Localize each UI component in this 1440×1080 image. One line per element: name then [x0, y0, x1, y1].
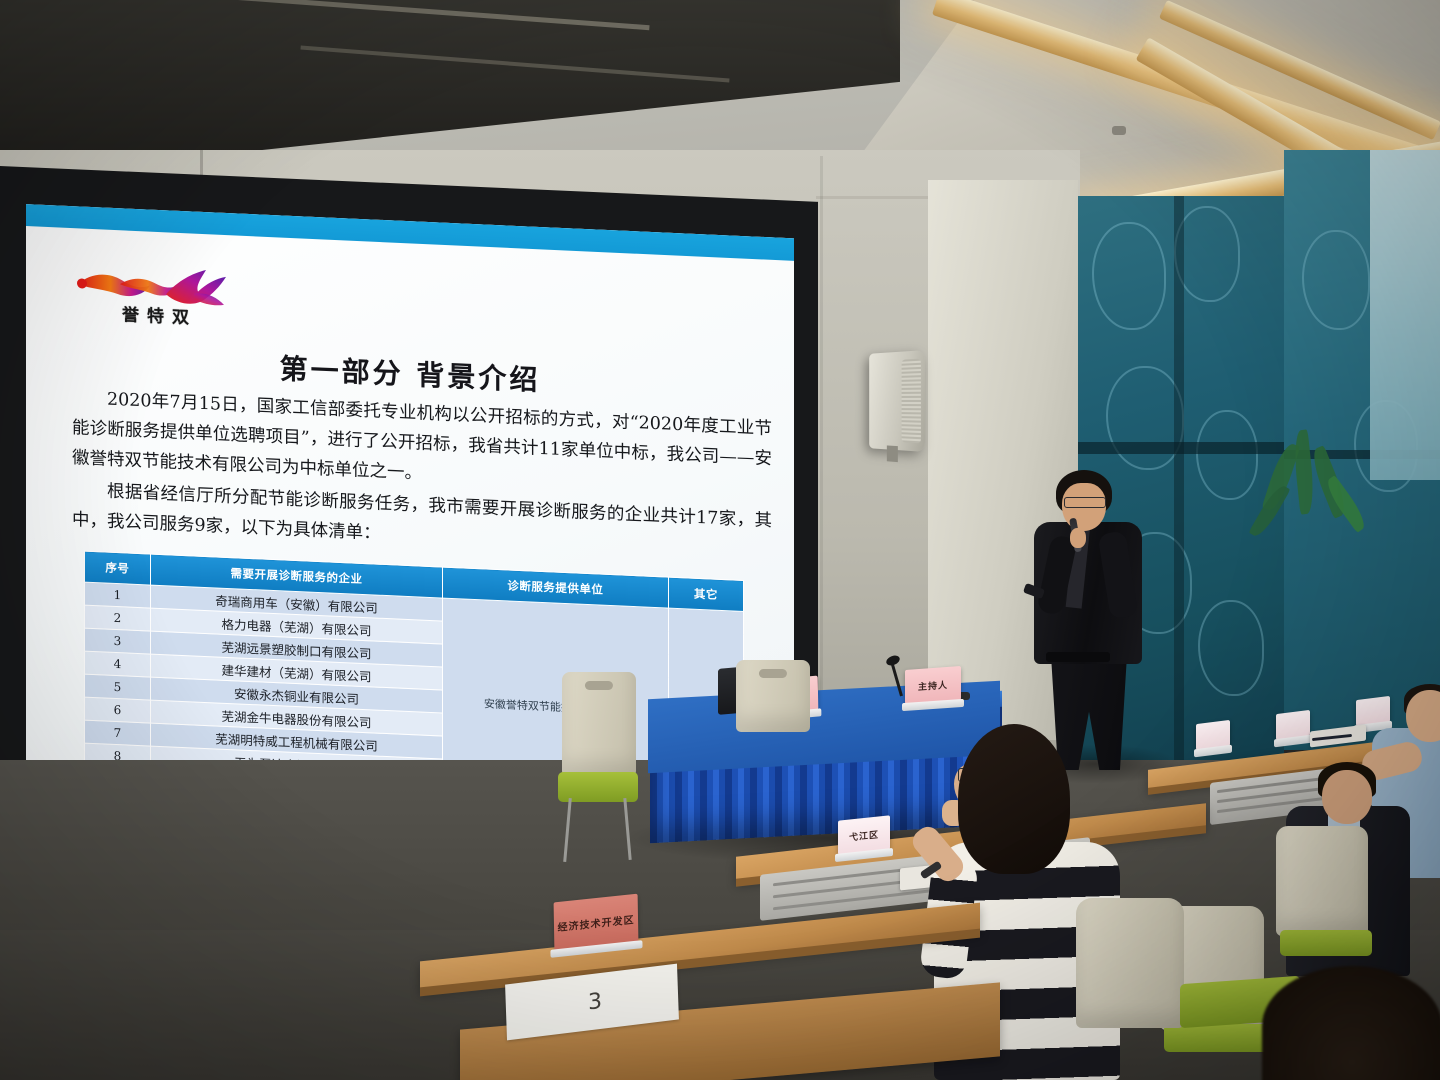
th-index: 序号	[85, 551, 151, 585]
handwriting: 3	[588, 989, 603, 1016]
presenter-hand	[1070, 528, 1086, 548]
chair-back	[1076, 898, 1184, 1028]
potted-plant	[1262, 430, 1382, 660]
cell-index: 1	[85, 582, 151, 608]
company-logo: 誉特双	[74, 260, 254, 340]
chair	[556, 672, 638, 862]
glass-mullion	[1174, 196, 1184, 776]
placard-economic-development-zone: 经济技术开发区	[554, 894, 639, 951]
chair-handle-slot	[759, 669, 787, 678]
placard-text: 主持人	[905, 666, 961, 704]
glass-decal	[1092, 222, 1166, 330]
glass-decal	[1302, 230, 1370, 330]
logo-company-name: 誉特双	[122, 300, 252, 331]
chair-leg	[563, 798, 572, 862]
chair-leg	[623, 798, 631, 860]
cell-index: 2	[85, 605, 151, 631]
placard-right-1	[1196, 720, 1230, 750]
cell-index: 5	[85, 674, 151, 700]
chair	[1276, 826, 1372, 986]
chair-handle-slot	[585, 681, 613, 690]
placard-right-2	[1276, 710, 1310, 740]
glass-decal	[1196, 410, 1258, 500]
chair-back	[1276, 826, 1368, 936]
cell-index: 4	[85, 651, 151, 677]
attendee-foreground-head	[1262, 966, 1440, 1080]
speaker-bracket	[887, 445, 898, 462]
smoke-detector-icon	[1112, 126, 1126, 135]
slide-body: 2020年7月15日，国家工信部委托专业机构以公开招标的方式，对“2020年度工…	[72, 383, 772, 569]
attendee-hair	[958, 724, 1070, 874]
cell-index: 3	[85, 628, 151, 654]
presenter-belt	[1046, 652, 1110, 662]
placard-yijiang-district: 弋江区	[838, 815, 890, 854]
cell-index: 7	[85, 720, 151, 746]
conference-room-photo: 誉特双 第一部分 背景介绍 2020年7月15日，国家工信部委托专业机构以公开招…	[0, 0, 1440, 1080]
speaker-grille	[902, 359, 921, 444]
glass-decal	[1198, 600, 1264, 696]
chair-seat	[1280, 930, 1372, 956]
cell-index: 6	[85, 697, 151, 723]
glass-decal	[1106, 366, 1184, 470]
chair-back	[562, 672, 636, 776]
eyeglasses-icon	[1064, 497, 1106, 508]
attendee-head	[1322, 770, 1372, 824]
pa-speaker	[869, 350, 925, 452]
placard-head-table-right: 主持人	[905, 666, 961, 704]
chair-back	[736, 660, 810, 732]
chair	[1076, 898, 1186, 1080]
th-other: 其它	[668, 577, 743, 611]
chair	[730, 660, 812, 740]
wall-seam	[820, 156, 823, 736]
